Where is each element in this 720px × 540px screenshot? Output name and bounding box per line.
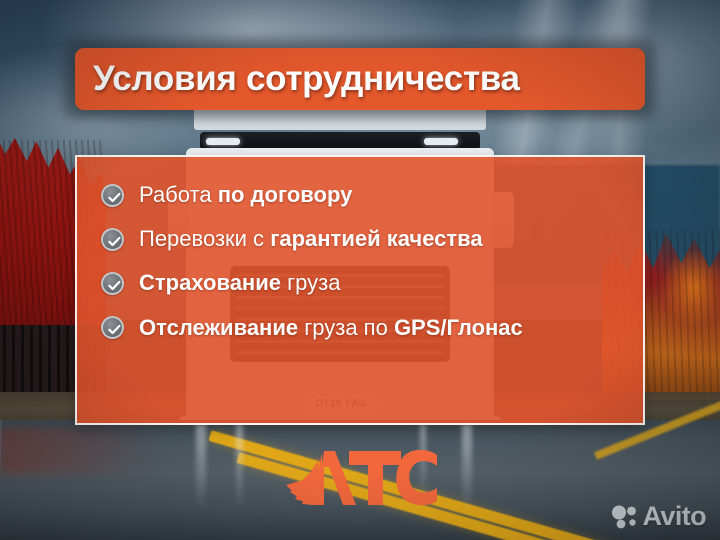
avito-dots-icon (611, 505, 637, 529)
truck-roof-lamp-right (424, 138, 458, 145)
list-item-text: Перевозки с гарантией качества (139, 227, 483, 251)
road-reflection-streak (196, 424, 206, 510)
text-bold-secondary: GPS/Глонас (394, 315, 523, 340)
list-item: Работа по договору (101, 183, 623, 207)
company-logo (277, 447, 443, 509)
logo-atc-mark (277, 447, 443, 509)
text-bold: по договору (218, 182, 353, 207)
avito-wordmark: Avito (643, 501, 707, 532)
list-item: Отслеживание груза по GPS/Глонас (101, 316, 623, 340)
text-regular-after: груза по (298, 315, 394, 340)
truck-roof-lamp-left (206, 138, 240, 145)
text-regular-after: груза (281, 270, 340, 295)
list-item: Перевозки с гарантией качества (101, 227, 623, 251)
logo-letter-t (349, 451, 401, 505)
avito-watermark: Avito (611, 501, 707, 532)
list-item-text: Страхование груза (139, 271, 340, 295)
check-circle-icon (101, 184, 124, 207)
text-regular: Перевозки с (139, 226, 270, 251)
text-bold: Страхование (139, 270, 281, 295)
list-item: Страхование груза (101, 271, 623, 295)
check-circle-icon (101, 272, 124, 295)
road-reflection-streak (236, 424, 243, 510)
text-bold: Отслеживание (139, 315, 298, 340)
list-item-text: Работа по договору (139, 183, 352, 207)
list-item-text: Отслеживание груза по GPS/Глонас (139, 316, 523, 340)
check-circle-icon (101, 316, 124, 339)
logo-letter-c (396, 450, 437, 505)
fan-rays-icon (286, 451, 324, 505)
title-banner: Условия сотрудничества (75, 48, 645, 110)
text-regular: Работа (139, 182, 218, 207)
conditions-panel: Работа по договору Перевозки с гарантией… (75, 155, 645, 425)
road-reflection-streak (462, 424, 472, 510)
conditions-list: Работа по договору Перевозки с гарантией… (77, 157, 643, 423)
check-circle-icon (101, 228, 124, 251)
text-bold: гарантией качества (270, 226, 482, 251)
ad-banner-image: IVECO OT18 FAU Условия сотрудничества Ра (0, 0, 720, 540)
page-title: Условия сотрудничества (93, 59, 520, 99)
